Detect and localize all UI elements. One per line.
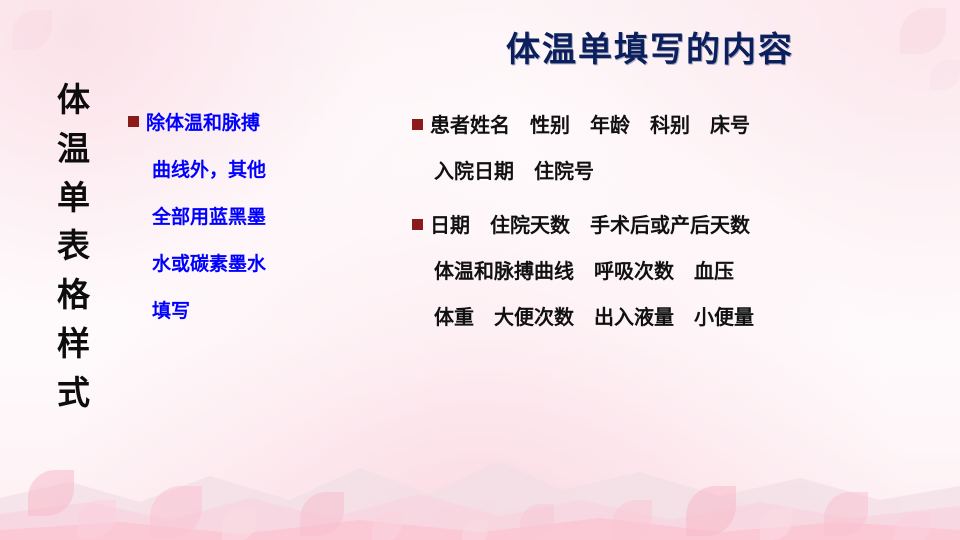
right-bullet-list: 患者姓名 性别 年龄 科别 床号 入院日期 住院号 日期 住院天数 手术后或产后… (412, 102, 932, 348)
vertical-title-char: 体 (38, 76, 110, 125)
square-marker-icon (412, 119, 423, 130)
main-title: 体温单填写的内容 (400, 22, 900, 71)
list-item-label: 除体温和脉搏 (146, 112, 260, 134)
list-item-label: 患者姓名 性别 年龄 科别 床号 (430, 113, 750, 137)
list-item-label: 日期 住院天数 手术后或产后天数 (430, 213, 750, 237)
bullet-block: 日期 住院天数 手术后或产后天数 体温和脉搏曲线 呼吸次数 血压 体重 大便次数… (412, 202, 932, 340)
list-item: 患者姓名 性别 年龄 科别 床号 (412, 102, 932, 148)
list-item: 水或碳素墨水 (128, 241, 353, 288)
list-item: 日期 住院天数 手术后或产后天数 (412, 202, 932, 248)
list-item: 体重 大便次数 出入液量 小便量 (412, 294, 932, 340)
vertical-title-char: 格 (38, 271, 110, 320)
vertical-title-char: 单 (38, 174, 110, 223)
list-item: 曲线外，其他 (128, 147, 353, 194)
list-item: 除体温和脉搏 (128, 100, 353, 147)
bullet-block: 患者姓名 性别 年龄 科别 床号 入院日期 住院号 (412, 102, 932, 194)
square-marker-icon (412, 219, 423, 230)
left-bullet-list: 除体温和脉搏 曲线外，其他 全部用蓝黑墨 水或碳素墨水 填写 (128, 100, 353, 335)
list-item: 全部用蓝黑墨 (128, 194, 353, 241)
mountain-silhouette-decoration (0, 390, 960, 540)
square-marker-icon (128, 116, 139, 127)
list-item: 入院日期 住院号 (412, 148, 932, 194)
vertical-slide-title: 体 温 单 表 格 样 式 (38, 76, 110, 418)
vertical-title-char: 式 (38, 369, 110, 418)
list-item: 填写 (128, 288, 353, 335)
vertical-title-char: 温 (38, 125, 110, 174)
vertical-title-char: 表 (38, 222, 110, 271)
vertical-title-char: 样 (38, 320, 110, 369)
list-item: 体温和脉搏曲线 呼吸次数 血压 (412, 248, 932, 294)
slide-canvas: 体 温 单 表 格 样 式 体温单填写的内容 除体温和脉搏 曲线外，其他 全部用… (0, 0, 960, 540)
